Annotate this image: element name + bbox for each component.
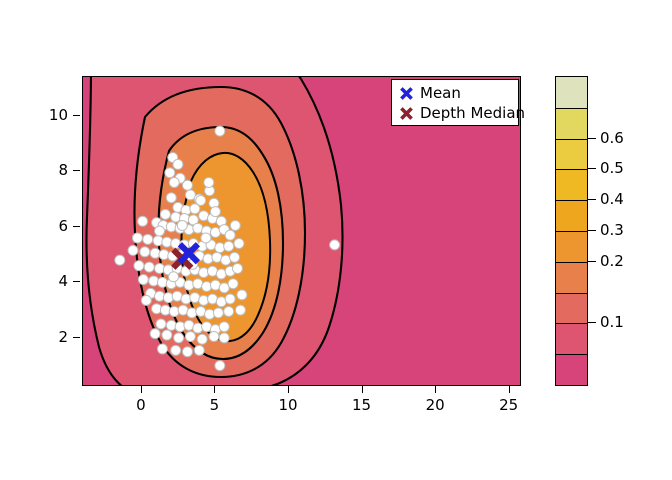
colorbar-tick (588, 138, 596, 139)
colorbar-band (556, 108, 587, 139)
colorbar-band (556, 293, 587, 324)
colorbar-tick-label: 0.3 (600, 221, 624, 239)
legend-label-depth-median: Depth Median (420, 105, 525, 122)
mean-marker (180, 244, 198, 262)
colorbar-band (556, 139, 587, 170)
x-axis-tick-label: 0 (136, 396, 146, 414)
y-axis-tick-label: 8 (34, 161, 68, 179)
x-axis-tick (509, 386, 510, 393)
x-axis-tick (288, 386, 289, 393)
legend-item-mean: Mean (398, 83, 512, 103)
x-axis-tick-label: 15 (352, 396, 371, 414)
x-axis-tick-label: 10 (278, 396, 297, 414)
colorbar-tick-label: 0.4 (600, 190, 624, 208)
legend-label-mean: Mean (420, 85, 461, 102)
colorbar-tick (588, 199, 596, 200)
y-axis-tick (73, 281, 80, 282)
x-axis-tick-label: 5 (210, 396, 220, 414)
colorbar-band (556, 262, 587, 293)
x-axis-tick-label: 25 (499, 396, 518, 414)
y-axis-tick (73, 337, 80, 338)
legend-item-depth-median: Depth Median (398, 103, 512, 123)
chart-root: Mean Depth Median 05101520252468100.60.5… (0, 0, 672, 480)
legend: Mean Depth Median (391, 79, 519, 126)
y-axis-tick (73, 170, 80, 171)
y-axis-tick (73, 226, 80, 227)
colorbar-tick (588, 168, 596, 169)
colorbar-band (556, 77, 587, 108)
colorbar-band (556, 231, 587, 262)
colorbar-tick-label: 0.6 (600, 129, 624, 147)
colorbar-tick (588, 261, 596, 262)
colorbar-band (556, 323, 587, 354)
colorbar-band (556, 200, 587, 231)
y-axis-tick-label: 10 (34, 106, 68, 124)
colorbar-tick-label: 0.2 (600, 252, 624, 270)
x-axis-tick (141, 386, 142, 393)
colorbar-tick-label: 0.1 (600, 313, 624, 331)
y-axis-tick-label: 2 (34, 328, 68, 346)
y-axis-tick (73, 115, 80, 116)
y-axis-tick-label: 6 (34, 217, 68, 235)
x-axis-tick (435, 386, 436, 393)
colorbar-tick-label: 0.5 (600, 159, 624, 177)
colorbar-band (556, 169, 587, 200)
x-axis-tick-label: 20 (426, 396, 445, 414)
colorbar-tick (588, 322, 596, 323)
x-axis-tick (362, 386, 363, 393)
y-axis-tick-label: 4 (34, 272, 68, 290)
colorbar (555, 76, 588, 386)
depth-median-x-icon (398, 105, 415, 122)
x-axis-tick (214, 386, 215, 393)
mean-x-icon (398, 85, 415, 102)
colorbar-tick (588, 230, 596, 231)
colorbar-band (556, 354, 587, 385)
